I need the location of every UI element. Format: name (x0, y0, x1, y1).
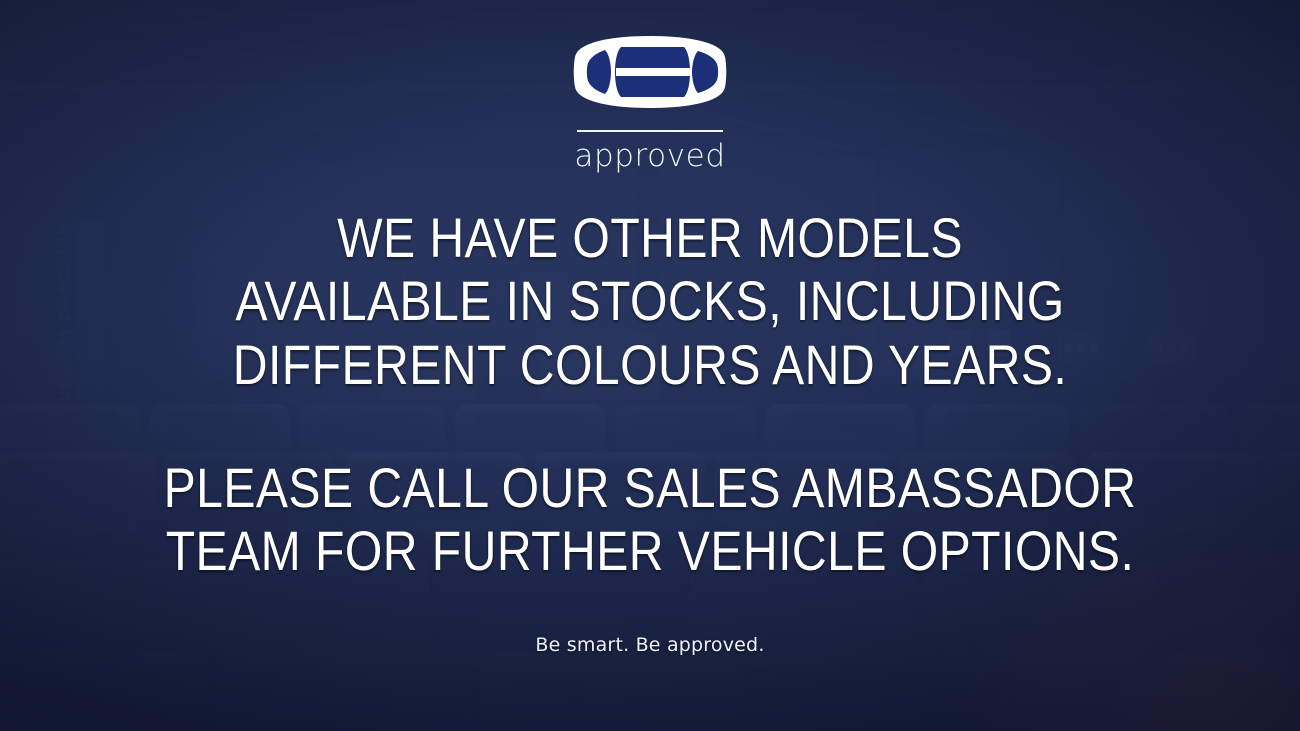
brand-logo-block: approved (572, 34, 728, 172)
headline-paragraph-1: WE HAVE OTHER MODELS AVAILABLE IN STOCKS… (216, 206, 1085, 396)
approved-promo-slide: Approved Warranty (0, 0, 1300, 731)
logo-divider (577, 130, 723, 132)
brand-wordmark: approved (574, 141, 725, 172)
car-top-view-icon (572, 34, 728, 110)
headline-paragraph-2: PLEASE CALL OUR SALES AMBASSADOR TEAM FO… (156, 456, 1145, 583)
slide-content: approved WE HAVE OTHER MODELS AVAILABLE … (0, 0, 1300, 731)
brand-tagline: Be smart. Be approved. (535, 634, 764, 656)
